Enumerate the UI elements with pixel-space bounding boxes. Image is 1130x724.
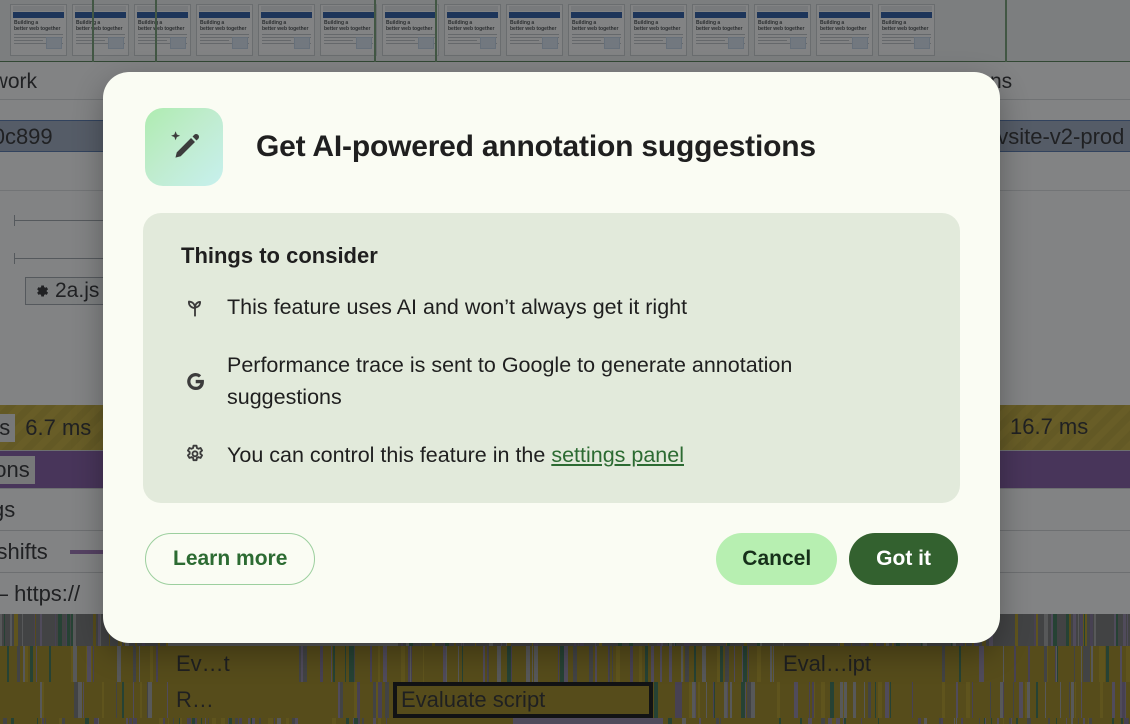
things-to-consider-card: Things to consider This feature uses AI … bbox=[143, 213, 960, 503]
consideration-text: You can control this feature in the sett… bbox=[227, 439, 684, 471]
consideration-item: Performance trace is sent to Google to g… bbox=[181, 349, 926, 413]
settings-panel-link[interactable]: settings panel bbox=[551, 443, 684, 467]
cancel-button[interactable]: Cancel bbox=[716, 533, 837, 585]
consideration-text: Performance trace is sent to Google to g… bbox=[227, 349, 867, 413]
consideration-item: This feature uses AI and won’t always ge… bbox=[181, 291, 926, 323]
consideration-item: You can control this feature in the sett… bbox=[181, 439, 926, 471]
dialog-title: Get AI-powered annotation suggestions bbox=[256, 130, 816, 164]
sprout-icon bbox=[181, 293, 209, 321]
card-heading: Things to consider bbox=[181, 243, 926, 269]
got-it-button[interactable]: Got it bbox=[849, 533, 958, 585]
dialog-actions: Learn more Cancel Got it bbox=[143, 533, 960, 585]
ai-annotation-suggestions-dialog: Get AI-powered annotation suggestions Th… bbox=[103, 72, 1000, 643]
magic-wand-pencil-icon bbox=[145, 108, 223, 186]
consideration-text-prefix: You can control this feature in the bbox=[227, 443, 551, 467]
consideration-text: This feature uses AI and won’t always ge… bbox=[227, 291, 687, 323]
screen: Building abetter web togetherBuilding ab… bbox=[0, 0, 1130, 724]
gear-icon bbox=[181, 441, 209, 469]
learn-more-button[interactable]: Learn more bbox=[145, 533, 315, 585]
google-g-icon bbox=[181, 367, 209, 395]
dialog-header: Get AI-powered annotation suggestions bbox=[143, 108, 960, 186]
